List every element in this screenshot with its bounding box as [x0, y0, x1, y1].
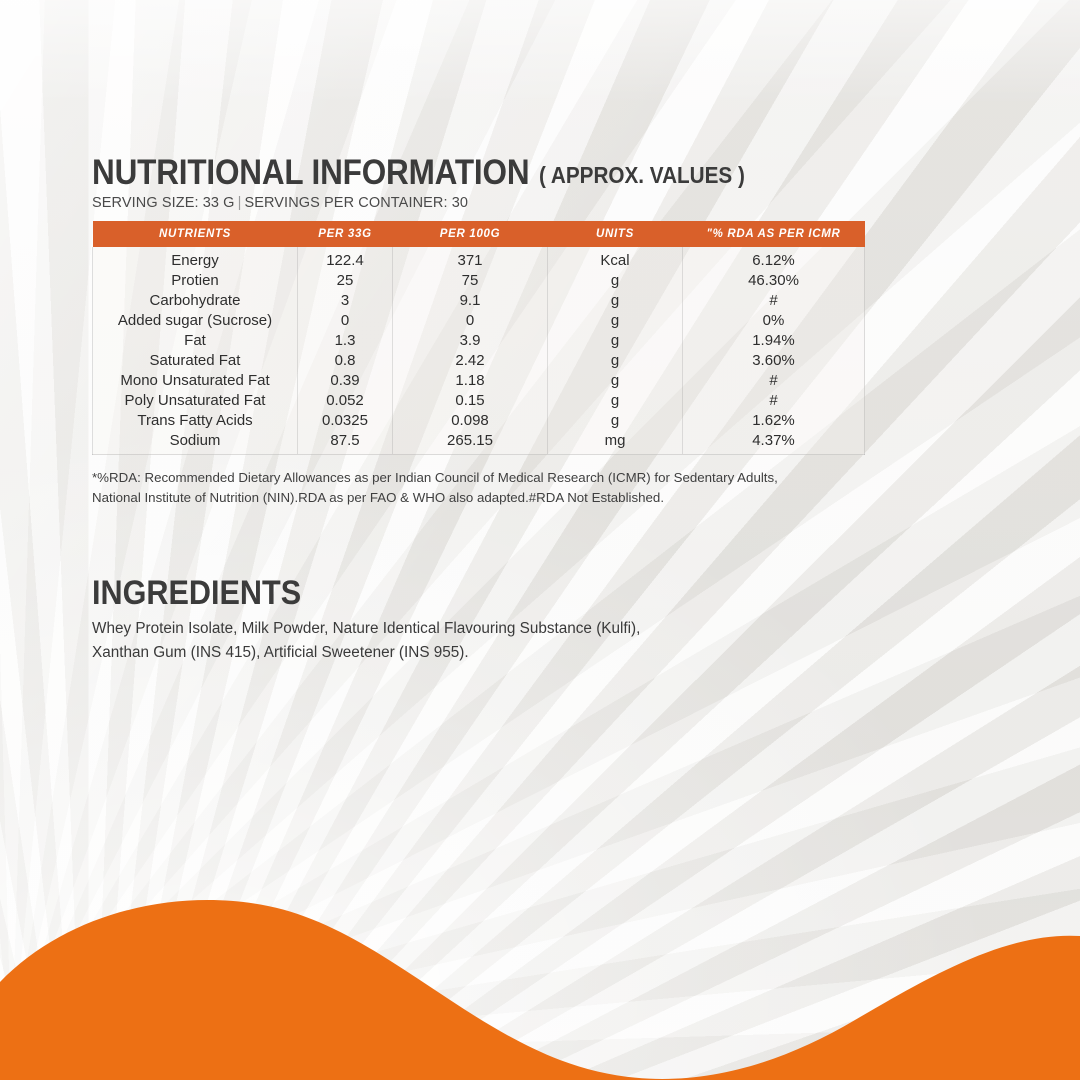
- cell-per-100g: 1.18: [393, 371, 548, 391]
- column-header-3: UNITS: [548, 221, 683, 247]
- servings-per-container-label: SERVINGS PER CONTAINER: 30: [244, 195, 468, 211]
- cell-rda: 1.94%: [683, 331, 865, 351]
- cell-per-100g: 0.098: [393, 411, 548, 431]
- serving-separator: |: [235, 195, 245, 211]
- table-row: Poly Unsaturated Fat0.0520.15g#: [93, 391, 865, 411]
- cell-per-100g: 75: [393, 271, 548, 291]
- cell-units: g: [548, 291, 683, 311]
- cell-per-100g: 0.15: [393, 391, 548, 411]
- nutrition-table-head: NUTRIENTSPER 33GPER 100GUNITS"% RDA AS P…: [93, 221, 865, 247]
- cell-nutrient: Mono Unsaturated Fat: [93, 371, 298, 391]
- cell-units: mg: [548, 431, 683, 455]
- cell-per-100g: 0: [393, 311, 548, 331]
- cell-per-100g: 3.9: [393, 331, 548, 351]
- table-row: Sodium87.5265.15mg4.37%: [93, 431, 865, 455]
- label-page: NUTRITIONAL INFORMATION ( APPROX. VALUES…: [0, 0, 1080, 1080]
- bottom-wave-decoration: [0, 870, 1080, 1080]
- cell-nutrient: Fat: [93, 331, 298, 351]
- cell-nutrient: Protien: [93, 271, 298, 291]
- cell-units: g: [548, 391, 683, 411]
- cell-nutrient: Carbohydrate: [93, 291, 298, 311]
- ingredients-body: Whey Protein Isolate, Milk Powder, Natur…: [92, 617, 752, 665]
- cell-per-33g: 0.052: [298, 391, 393, 411]
- cell-units: g: [548, 411, 683, 431]
- ingredients-section: INGREDIENTS Whey Protein Isolate, Milk P…: [92, 575, 992, 665]
- page-title: NUTRITIONAL INFORMATION: [92, 156, 529, 190]
- serving-info: SERVING SIZE: 33 G|SERVINGS PER CONTAINE…: [92, 195, 992, 211]
- table-row: Trans Fatty Acids0.03250.098g1.62%: [93, 411, 865, 431]
- cell-units: g: [548, 351, 683, 371]
- cell-units: g: [548, 311, 683, 331]
- column-header-1: PER 33G: [298, 221, 393, 247]
- table-row: Fat1.33.9g1.94%: [93, 331, 865, 351]
- nutrition-table-wrapper: NUTRIENTSPER 33GPER 100GUNITS"% RDA AS P…: [92, 221, 864, 455]
- cell-units: g: [548, 371, 683, 391]
- cell-rda: 0%: [683, 311, 865, 331]
- nutrition-table: NUTRIENTSPER 33GPER 100GUNITS"% RDA AS P…: [92, 221, 865, 455]
- cell-rda: #: [683, 371, 865, 391]
- table-row: Mono Unsaturated Fat0.391.18g#: [93, 371, 865, 391]
- cell-units: g: [548, 331, 683, 351]
- table-row: Added sugar (Sucrose)00g0%: [93, 311, 865, 331]
- cell-per-100g: 371: [393, 247, 548, 271]
- ingredients-title: INGREDIENTS: [92, 575, 902, 611]
- cell-per-33g: 1.3: [298, 331, 393, 351]
- cell-per-100g: 2.42: [393, 351, 548, 371]
- cell-per-33g: 0.39: [298, 371, 393, 391]
- cell-nutrient: Sodium: [93, 431, 298, 455]
- cell-per-33g: 0.8: [298, 351, 393, 371]
- page-subtitle: ( APPROX. VALUES ): [539, 160, 745, 190]
- cell-nutrient: Trans Fatty Acids: [93, 411, 298, 431]
- cell-rda: 4.37%: [683, 431, 865, 455]
- column-header-4: "% RDA AS PER ICMR: [683, 221, 865, 247]
- cell-rda: 6.12%: [683, 247, 865, 271]
- table-row: Energy122.4371Kcal6.12%: [93, 247, 865, 271]
- cell-rda: #: [683, 291, 865, 311]
- ingredients-line-2: Xanthan Gum (INS 415), Artificial Sweete…: [92, 641, 752, 665]
- cell-nutrient: Saturated Fat: [93, 351, 298, 371]
- cell-per-33g: 0.0325: [298, 411, 393, 431]
- serving-size-label: SERVING SIZE: 33 G: [92, 195, 235, 211]
- footnote-line-1: *%RDA: Recommended Dietary Allowances as…: [92, 468, 792, 488]
- cell-nutrient: Energy: [93, 247, 298, 271]
- column-header-2: PER 100G: [393, 221, 548, 247]
- cell-per-100g: 265.15: [393, 431, 548, 455]
- nutrition-heading-row: NUTRITIONAL INFORMATION ( APPROX. VALUES…: [92, 156, 992, 190]
- cell-per-33g: 3: [298, 291, 393, 311]
- content-container: NUTRITIONAL INFORMATION ( APPROX. VALUES…: [92, 156, 992, 665]
- rda-footnote: *%RDA: Recommended Dietary Allowances as…: [92, 468, 792, 508]
- cell-per-33g: 122.4: [298, 247, 393, 271]
- cell-rda: 1.62%: [683, 411, 865, 431]
- background-top-band: [0, 0, 1080, 104]
- nutrition-table-body: Energy122.4371Kcal6.12%Protien2575g46.30…: [93, 247, 865, 455]
- ingredients-line-1: Whey Protein Isolate, Milk Powder, Natur…: [92, 617, 752, 641]
- table-header-row: NUTRIENTSPER 33GPER 100GUNITS"% RDA AS P…: [93, 221, 865, 247]
- table-row: Saturated Fat0.82.42g3.60%: [93, 351, 865, 371]
- cell-per-100g: 9.1: [393, 291, 548, 311]
- cell-per-33g: 0: [298, 311, 393, 331]
- cell-nutrient: Added sugar (Sucrose): [93, 311, 298, 331]
- cell-rda: 3.60%: [683, 351, 865, 371]
- cell-nutrient: Poly Unsaturated Fat: [93, 391, 298, 411]
- table-row: Carbohydrate39.1g#: [93, 291, 865, 311]
- cell-rda: 46.30%: [683, 271, 865, 291]
- cell-units: g: [548, 271, 683, 291]
- cell-units: Kcal: [548, 247, 683, 271]
- column-header-0: NUTRIENTS: [93, 221, 298, 247]
- table-row: Protien2575g46.30%: [93, 271, 865, 291]
- cell-rda: #: [683, 391, 865, 411]
- footnote-line-2: National Institute of Nutrition (NIN).RD…: [92, 488, 792, 508]
- cell-per-33g: 87.5: [298, 431, 393, 455]
- cell-per-33g: 25: [298, 271, 393, 291]
